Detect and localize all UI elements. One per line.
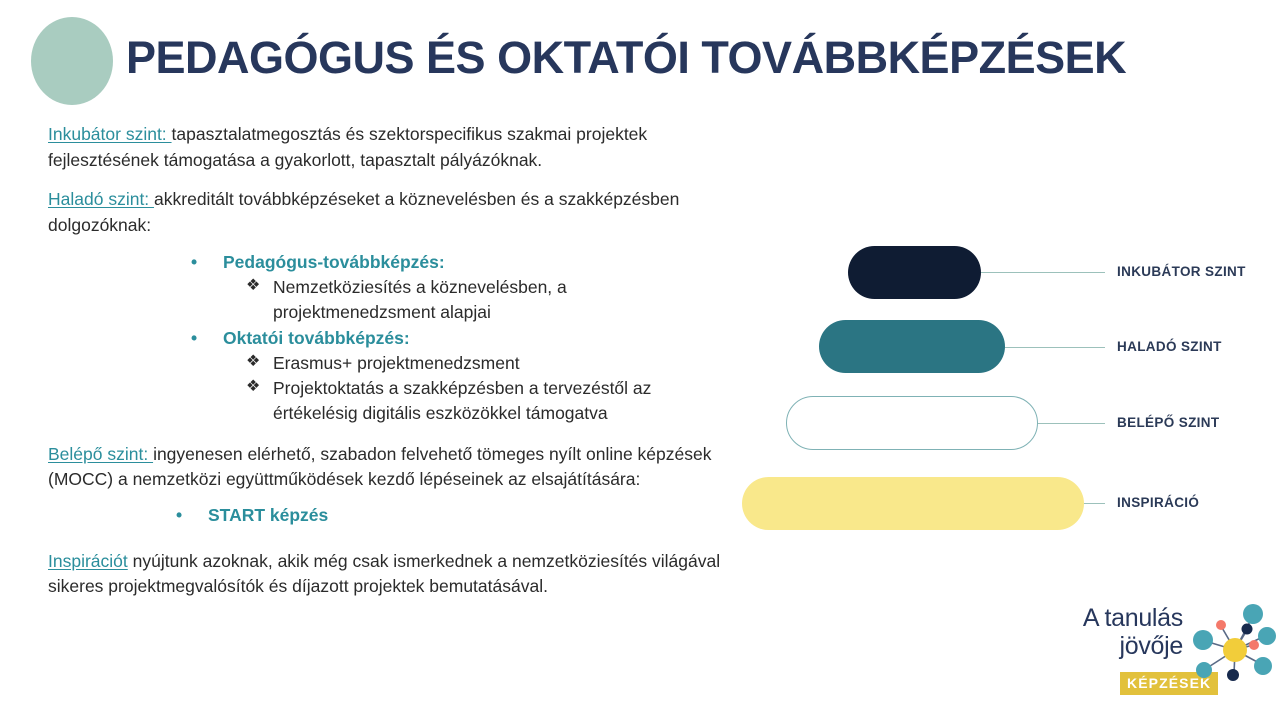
- logo-line-1: A tanulás: [1035, 604, 1183, 632]
- paragraph-belepo: Belépő szint: ingyenesen elérhető, szaba…: [48, 442, 748, 493]
- bullet-diamond-icon: ❖: [246, 275, 260, 298]
- diagram-label-belepo: BELÉPŐ SZINT: [1117, 415, 1219, 430]
- diagram-label-halado: HALADÓ SZINT: [1117, 339, 1222, 354]
- sub-item-line2: projektmenedzsment alapjai: [273, 300, 748, 325]
- bullet-dot: •: [191, 325, 197, 351]
- diagram-pill-inkubator: [848, 246, 981, 299]
- paragraph-inkubator: Inkubátor szint: tapasztalatmegosztás és…: [48, 122, 748, 173]
- bullet-dot: •: [191, 249, 197, 275]
- levels-diagram: INKUBÁTOR SZINT HALADÓ SZINT BELÉPŐ SZIN…: [735, 230, 1280, 540]
- list-item-oktatoi: • Oktatói továbbképzés:: [48, 325, 748, 351]
- decorative-circle: [31, 17, 113, 105]
- sub-item-erasmus: ❖ Erasmus+ projektmenedzsment: [48, 351, 748, 376]
- bullet-diamond-icon: ❖: [246, 376, 260, 399]
- bullet-diamond-icon: ❖: [246, 351, 260, 374]
- list-item-pedagogus: • Pedagógus-továbbképzés:: [48, 249, 748, 275]
- sub-item-line1: Erasmus+ projektmenedzsment: [273, 351, 748, 376]
- brand-logo: A tanulás jövője KÉPZÉSEK: [1035, 600, 1280, 710]
- sub-item-nemzetkoziesites: ❖ Nemzetköziesítés a köznevelésben, a pr…: [48, 275, 748, 325]
- label-inkubator-szint: Inkubátor szint:: [48, 124, 172, 144]
- diagram-pill-belepo: [786, 396, 1038, 450]
- paragraph-inspiracio: Inspirációt nyújtunk azoknak, akik még c…: [48, 549, 748, 600]
- logo-wordmark: A tanulás jövője: [1035, 604, 1183, 660]
- sub-item-line1: Nemzetköziesítés a köznevelésben, a: [273, 275, 748, 300]
- text-inspiracio: nyújtunk azoknak, akik még csak ismerked…: [48, 551, 720, 597]
- belepo-block: Belépő szint: ingyenesen elérhető, szaba…: [48, 442, 748, 529]
- body-content: Inkubátor szint: tapasztalatmegosztás és…: [48, 122, 748, 614]
- halado-list: • Pedagógus-továbbképzés: ❖ Nemzetközies…: [48, 249, 748, 426]
- label-halado-szint: Haladó szint:: [48, 189, 154, 209]
- slide-canvas: PEDAGÓGUS ÉS OKTATÓI TOVÁBBKÉPZÉSEK Inku…: [0, 0, 1280, 720]
- list-item-label: Oktatói továbbképzés:: [223, 328, 410, 348]
- list-item-start-kepzes: • START képzés: [48, 503, 748, 529]
- diagram-pill-halado: [819, 320, 1005, 373]
- bullet-dot: •: [176, 503, 182, 529]
- sub-item-line2: értékelésig digitális eszközökkel támoga…: [273, 401, 748, 426]
- diagram-pill-inspiracio: [742, 477, 1084, 530]
- list-item-label: START képzés: [208, 505, 328, 525]
- connector-line-inkubator: [970, 272, 1105, 273]
- sub-item-line1: Projektoktatás a szakképzésben a tervezé…: [273, 376, 748, 401]
- page-title: PEDAGÓGUS ÉS OKTATÓI TOVÁBBKÉPZÉSEK: [126, 33, 1126, 83]
- sub-item-projektoktatas: ❖ Projektoktatás a szakképzésben a terve…: [48, 376, 748, 426]
- diagram-label-inkubator: INKUBÁTOR SZINT: [1117, 264, 1246, 279]
- logo-line-2: jövője: [1035, 632, 1183, 660]
- network-nodes-icon: [1187, 600, 1280, 692]
- label-belepo-szint: Belépő szint:: [48, 444, 153, 464]
- diagram-label-inspiracio: INSPIRÁCIÓ: [1117, 495, 1199, 510]
- paragraph-halado: Haladó szint: akkreditált továbbképzések…: [48, 187, 748, 238]
- list-item-label: Pedagógus-továbbképzés:: [223, 252, 445, 272]
- label-inspiraciot: Inspirációt: [48, 551, 128, 571]
